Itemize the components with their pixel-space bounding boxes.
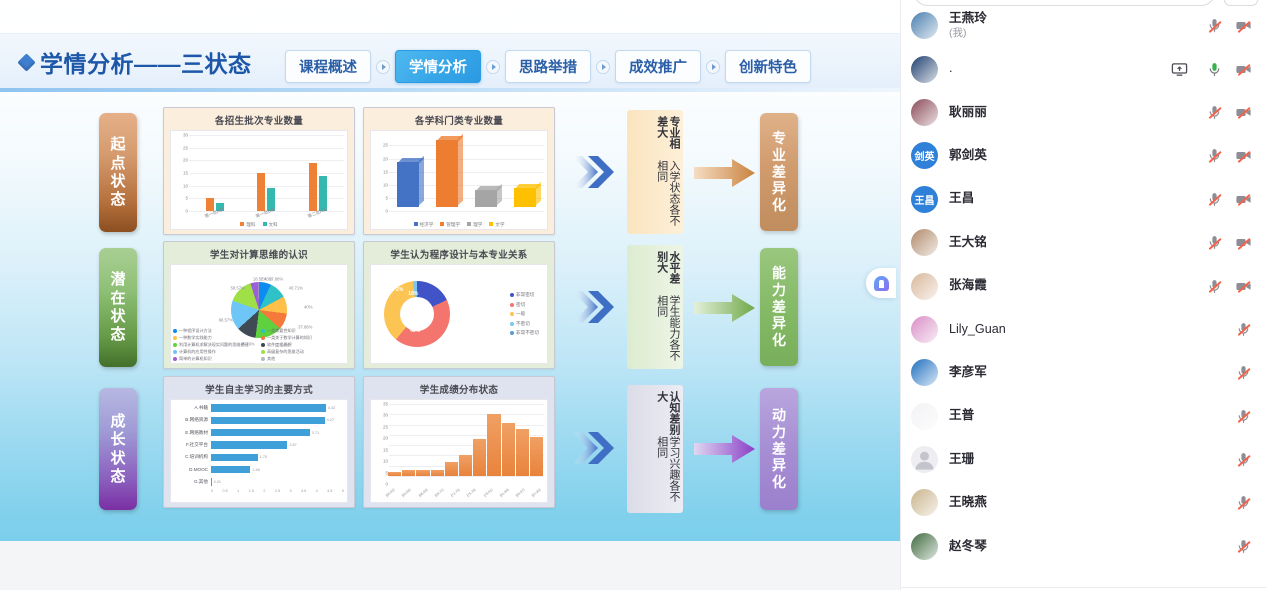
avatar [911, 56, 938, 83]
statement-box-potential: 学生能力各不相同 水平差别大 [627, 245, 683, 369]
x-tick: 0 [211, 489, 213, 497]
hbar-track: 4.32 [211, 404, 344, 412]
hbar-fill [211, 429, 310, 437]
app-root: 学情分析——三状态 课程概述学情分析思路举措成效推广创新特色 起点状态 潜在状态… [0, 0, 1266, 590]
hbar-value: 0.01 [214, 480, 221, 484]
chevron-right-icon [596, 60, 610, 74]
x-tick: 4 [316, 489, 318, 497]
legend-item: 密切 [510, 302, 539, 308]
participant-name: . [949, 61, 1171, 77]
chart-title: 各学科门类专业数量 [370, 113, 548, 127]
y-tick: 25 [383, 143, 388, 148]
result-label-char-3: 异 [772, 181, 786, 196]
participant-name-block: 赵冬琴 [949, 539, 1235, 555]
tab-separator-2 [481, 60, 505, 74]
state-label-char-0: 潜 [110, 272, 125, 287]
x-tick: [75,78) [466, 488, 481, 502]
hbar-track: 1.75 [211, 454, 344, 462]
microphone-muted-icon[interactable] [1206, 147, 1223, 164]
bar-理科 [309, 163, 317, 211]
pie-value-label: 40.71% [289, 285, 303, 290]
avatar [911, 403, 938, 430]
tab-0[interactable]: 课程概述 [285, 50, 371, 83]
hbar-label: F.社交平台 [173, 442, 211, 448]
bar-6 [473, 439, 486, 476]
legend-item: 其他 [261, 355, 345, 362]
chart-plot-area: A.书籍4.32B.网络资源4.27E.网络教材3.71F.社交平台2.87C.… [170, 399, 348, 503]
statement-primary: 水平差别大 [655, 251, 680, 294]
y-tick: 0 [385, 482, 388, 487]
hbar-track: 1.48 [211, 466, 344, 474]
chart-panel-programming-relation: 学生认为程序设计与本专业关系 18%43%37%2%非常密切密切一般不密切非常不… [363, 241, 555, 369]
participant-status-icons [1206, 104, 1252, 121]
participant-row[interactable]: 王昌王昌 [901, 178, 1266, 221]
camera-off-icon[interactable] [1235, 278, 1252, 295]
result-label-char-2: 差 [772, 165, 786, 180]
x-tick: 5 [342, 489, 344, 497]
participant-row[interactable]: 王大铭 [901, 221, 1266, 264]
state-label-char-0: 成 [110, 414, 125, 429]
chart-plot-area: 18%43%37%2%非常密切密切一般不密切非常不密切 [370, 264, 548, 364]
participant-row[interactable]: 耿丽丽 [901, 91, 1266, 134]
slide-bottom-strip [0, 541, 900, 590]
statement-secondary: 学习兴趣各不相同 [655, 436, 680, 507]
x-axis-labels: 00.511.522.533.544.55 [211, 489, 344, 497]
legend-item: 非常密切 [510, 292, 539, 298]
block-arrow-icon [694, 158, 756, 188]
slide-tab-bar[interactable]: 课程概述学情分析思路举措成效推广创新特色 [285, 50, 811, 83]
donut-value-label: 2% [396, 287, 403, 293]
x-tick: [66,69) [418, 488, 433, 502]
hbar-track: 4.27 [211, 417, 344, 425]
microphone-muted-icon[interactable] [1206, 17, 1223, 34]
bar-7 [487, 414, 500, 476]
hbar-row-4: C.培训机构1.75 [173, 454, 344, 462]
legend-item: 一类关于数学计算的知识 [261, 335, 345, 342]
x-tick: 3 [289, 489, 291, 497]
y-tick: 20 [183, 158, 188, 163]
participant-name: 赵冬琴 [949, 539, 1235, 555]
chart-panel-discipline-majors: 各学科门类专业数量 0510152025经济学管理学理学文学 [363, 107, 555, 235]
hbar-label: C.培训机构 [173, 454, 211, 460]
y-tick: 0 [185, 209, 188, 214]
y-tick: 10 [383, 182, 388, 187]
diamond-bullet-icon [17, 53, 35, 71]
legend-item: 一种数学实践能力 [173, 335, 257, 342]
avatar [911, 533, 938, 560]
tab-3[interactable]: 成效推广 [615, 50, 701, 83]
x-tick: 3.5 [301, 489, 306, 497]
result-label-char-0: 动 [772, 408, 786, 423]
y-axis: 0510152025 [373, 135, 389, 211]
participant-status-icons [1206, 147, 1252, 164]
participant-row[interactable]: 王燕玲(我) [901, 4, 1266, 47]
participant-row[interactable]: 张海霞 [901, 264, 1266, 307]
chart-plot-area: 27.86%40.71%40%37.86%62.14%45.29%68.57%5… [170, 264, 348, 364]
hbar-value: 1.48 [252, 468, 259, 472]
result-label-char-4: 化 [772, 475, 786, 490]
x-tick: [78,81) [483, 488, 498, 502]
participant-name: 王晓燕 [949, 495, 1235, 511]
statement-box-start: 入学状态各不相同 专业相差大 [627, 110, 683, 234]
hbar-fill [211, 466, 250, 474]
hbar-row-1: B.网络资源4.27 [173, 417, 344, 425]
result-label-char-4: 化 [772, 333, 786, 348]
camera-off-icon[interactable] [1235, 191, 1252, 208]
page-title: 学情分析——三状态 [20, 45, 252, 79]
participant-name: 耿丽丽 [949, 105, 1206, 121]
microphone-muted-icon[interactable] [1235, 494, 1252, 511]
participants-panel: 王燕玲(我).耿丽丽剑英郭剑英王昌王昌王大铭张海霞Lily_Guan李彦军王普王… [900, 0, 1266, 590]
bar-文学 [514, 188, 536, 207]
bar-管理学 [436, 140, 458, 207]
y-tick: 0 [385, 209, 388, 214]
legend-item: 不密切 [510, 321, 539, 327]
result-label-char-4: 化 [772, 198, 786, 213]
hbar-value: 3.71 [312, 431, 319, 435]
chart-title: 学生成绩分布状态 [370, 382, 548, 396]
y-tick: 5 [385, 195, 388, 200]
result-label-char-1: 力 [772, 283, 786, 298]
header-underline [0, 88, 900, 92]
shared-slide-area: 学情分析——三状态 课程概述学情分析思路举措成效推广创新特色 起点状态 潜在状态… [0, 0, 900, 590]
hbar-label: G.其他 [173, 479, 211, 485]
legend-item: 计算机的应用性操作 [173, 348, 257, 355]
hbar-track: 3.71 [211, 429, 344, 437]
chart-plot-area: 0510152025经济学管理学理学文学 [370, 130, 548, 230]
participant-self-tag: (我) [949, 27, 1206, 40]
hbar-row-3: F.社交平台2.87 [173, 441, 344, 449]
participant-name-block: 王晓燕 [949, 495, 1235, 511]
bar-8 [502, 423, 515, 476]
x-tick: [63,66) [401, 488, 416, 502]
chart-panel-computational-thinking: 学生对计算思维的认识 27.86%40.71%40%37.86%62.14%45… [163, 241, 355, 369]
hbar-fill [211, 417, 325, 425]
hbar-row-2: E.网络教材3.71 [173, 429, 344, 437]
block-arrow-icon [694, 293, 756, 323]
screen-share-icon[interactable] [1171, 61, 1188, 78]
chart-panel-admission-majors: 各招生批次专业数量 051015202530第一批A类第一批B类第二批A类理科文… [163, 107, 355, 235]
slide-title-text: 学情分析——三状态 [40, 45, 252, 79]
state-pill-start: 起点状态 [99, 113, 137, 232]
hbar-label: A.书籍 [173, 405, 211, 411]
participant-status-icons [1235, 364, 1252, 381]
chevron-arrow-icon [570, 287, 616, 327]
participant-name: 王珊 [949, 452, 1235, 468]
x-tick: [60,63) [385, 488, 400, 502]
bars [389, 135, 544, 207]
participant-row[interactable]: 赵冬琴 [901, 525, 1266, 568]
hbar-fill [211, 404, 326, 412]
state-label-char-1: 长 [110, 432, 125, 447]
y-tick: 30 [183, 133, 188, 138]
hbar-rows: A.书籍4.32B.网络资源4.27E.网络教材3.71F.社交平台2.87C.… [173, 402, 344, 488]
bar-理科 [257, 173, 265, 211]
y-tick: 10 [183, 183, 188, 188]
microphone-muted-icon[interactable] [1235, 364, 1252, 381]
donut-value-label: 37% [374, 304, 384, 310]
participant-name: 王大铭 [949, 235, 1206, 251]
participant-list[interactable]: 王燕玲(我).耿丽丽剑英郭剑英王昌王昌王大铭张海霞Lily_Guan李彦军王普王… [901, 4, 1266, 582]
tab-separator-1 [371, 60, 395, 74]
y-tick: 5 [185, 196, 188, 201]
state-label-char-3: 态 [110, 469, 125, 484]
statement-secondary: 入学状态各不相同 [655, 160, 680, 228]
participant-status-icons [1206, 234, 1252, 251]
chevron-arrow-icon [570, 428, 616, 468]
pie-value-label: 58.57% [231, 286, 245, 291]
x-tick: [69,72) [434, 488, 449, 502]
avatar: 剑英 [911, 142, 938, 169]
microphone-muted-icon[interactable] [1206, 234, 1223, 251]
x-tick: [72,75) [450, 488, 465, 502]
participant-name-block: 王珊 [949, 452, 1235, 468]
microphone-muted-icon[interactable] [1206, 278, 1223, 295]
tab-1[interactable]: 学情分析 [395, 50, 481, 83]
participant-name-block: 王大铭 [949, 235, 1206, 251]
participant-name-block: 耿丽丽 [949, 105, 1206, 121]
chart-title: 学生认为程序设计与本专业关系 [370, 247, 548, 261]
hbar-row-6: G.其他0.01 [173, 478, 344, 486]
chart-title: 学生自主学习的主要方式 [170, 382, 348, 396]
legend-item: 理科 [240, 216, 255, 231]
tab-2[interactable]: 思路举措 [505, 50, 591, 83]
x-tick: 1 [237, 489, 239, 497]
participant-name: Lily_Guan [949, 322, 1235, 338]
chart-panel-score-distribution: 学生成绩分布状态 05101520253035[60,63)[63,66)[66… [363, 376, 555, 508]
legend-item: 利用计算机求解决现实问题的思维途径 [173, 342, 257, 349]
x-tick: [84,87) [515, 488, 530, 502]
participant-name: 李彦军 [949, 365, 1235, 381]
result-label-char-0: 专 [772, 131, 786, 146]
bar-2 [416, 470, 429, 476]
participant-status-icons [1235, 321, 1252, 338]
participant-name-block: 王昌 [949, 191, 1206, 207]
tab-separator-4 [701, 60, 725, 74]
bar-1 [402, 470, 415, 476]
result-label-char-2: 差 [772, 442, 786, 457]
ai-assistant-button[interactable] [866, 268, 896, 298]
state-label-char-1: 在 [110, 291, 125, 306]
hbar-label: E.网络教材 [173, 430, 211, 436]
pie-legend: 一种程序设计方法一类需要性知识一种数学实践能力一类关于数学计算的知识利用计算机求… [173, 328, 345, 362]
hbar-fill [211, 454, 258, 462]
pie-value-label: 1.43% [261, 276, 273, 281]
hbar-track: 0.01 [211, 478, 344, 486]
state-label-char-3: 态 [110, 192, 125, 207]
participant-status-icons [1206, 278, 1252, 295]
state-label-char-2: 状 [110, 451, 125, 466]
participant-row[interactable]: 李彦军 [901, 351, 1266, 394]
avatar [911, 489, 938, 516]
assistant-icon [874, 276, 889, 291]
legend-item: 高级复杂的思维活动 [261, 348, 345, 355]
statement-primary: 专业相差大 [655, 116, 680, 159]
chart-title: 各招生批次专业数量 [170, 113, 348, 127]
participant-status-icons [1206, 17, 1252, 34]
hbar-value: 1.75 [260, 455, 267, 459]
microphone-muted-icon[interactable] [1235, 451, 1252, 468]
bar-经济学 [397, 162, 419, 207]
bar-group-2 [309, 135, 327, 211]
legend-item: 管理学 [440, 216, 460, 231]
chevron-right-icon [486, 60, 500, 74]
legend-item: 文科 [263, 216, 278, 231]
participant-name: 张海霞 [949, 278, 1206, 294]
microphone-muted-icon[interactable] [1206, 191, 1223, 208]
camera-off-icon[interactable] [1235, 147, 1252, 164]
legend-item: 一类需要性知识 [261, 328, 345, 335]
x-tick: 2 [263, 489, 265, 497]
x-tick: 2.5 [275, 489, 280, 497]
result-label-char-3: 异 [772, 458, 786, 473]
state-label-char-3: 态 [110, 327, 125, 342]
donut-value-label: 43% [410, 328, 420, 334]
state-pill-potential: 潜在状态 [99, 248, 137, 367]
bar-理学 [475, 190, 497, 207]
tab-separator-3 [591, 60, 615, 74]
legend-item: 一种程序设计方法 [173, 328, 257, 335]
state-label-char-2: 状 [110, 309, 125, 324]
participant-name: 王昌 [949, 191, 1206, 207]
x-tick: 1.5 [249, 489, 254, 497]
avatar [911, 446, 938, 473]
avatar [911, 99, 938, 126]
bar-3 [431, 470, 444, 476]
microphone-on-icon[interactable] [1206, 61, 1223, 78]
avatar [911, 316, 938, 343]
participant-status-icons [1171, 61, 1252, 78]
donut-value-label: 18% [408, 291, 418, 297]
y-axis: 051015202530 [173, 135, 189, 211]
result-label-char-1: 力 [772, 425, 786, 440]
legend-item: 软件工程思想 [261, 342, 345, 349]
statement-primary: 认知差别大 [655, 391, 680, 435]
bars [189, 135, 344, 211]
microphone-muted-icon[interactable] [1235, 408, 1252, 425]
chart-panel-self-learning: 学生自主学习的主要方式 A.书籍4.32B.网络资源4.27E.网络教材3.71… [163, 376, 355, 508]
state-pill-growth: 成长状态 [99, 388, 137, 510]
tab-4[interactable]: 创新特色 [725, 50, 811, 83]
participant-status-icons [1235, 538, 1252, 555]
chevron-right-icon [706, 60, 720, 74]
camera-off-icon[interactable] [1235, 61, 1252, 78]
microphone-muted-icon[interactable] [1235, 321, 1252, 338]
microphone-muted-icon[interactable] [1206, 104, 1223, 121]
participant-row[interactable]: 王普 [901, 395, 1266, 438]
bar-0 [388, 472, 401, 476]
participant-name-block: 张海霞 [949, 278, 1206, 294]
avatar [911, 12, 938, 39]
participant-name-block: 李彦军 [949, 365, 1235, 381]
participant-row[interactable]: 王珊 [901, 438, 1266, 481]
bar-9 [516, 429, 529, 476]
participant-row[interactable]: . [901, 47, 1266, 90]
participant-name-block: 郭剑英 [949, 148, 1206, 164]
result-pill-major: 专业差异化 [760, 113, 798, 231]
chart-title: 学生对计算思维的认识 [170, 247, 348, 261]
legend: 经济学管理学理学文学 [371, 220, 547, 229]
panel-divider [901, 587, 1266, 588]
hbar-fill [211, 478, 212, 486]
state-label-char-0: 起 [110, 137, 125, 152]
legend-item: 非常不密切 [510, 330, 539, 336]
participant-name: 郭剑英 [949, 148, 1206, 164]
participant-status-icons [1235, 408, 1252, 425]
participant-name-block: . [949, 61, 1171, 77]
participant-row[interactable]: Lily_Guan [901, 308, 1266, 351]
result-pill-ability: 能力差异化 [760, 248, 798, 366]
participant-name: 王燕玲 [949, 11, 1206, 27]
state-label-char-1: 点 [110, 156, 125, 171]
legend-item: 文学 [489, 216, 504, 231]
x-tick: 0.5 [223, 489, 228, 497]
participant-name-block: Lily_Guan [949, 322, 1235, 338]
participant-name: 王普 [949, 408, 1235, 424]
legend-item: 经济学 [414, 216, 434, 231]
pie-value-label: 40% [304, 304, 312, 309]
x-tick: [81,84) [499, 488, 514, 502]
statement-secondary: 学生能力各不相同 [655, 295, 680, 363]
y-tick: 20 [383, 156, 388, 161]
camera-off-icon[interactable] [1235, 104, 1252, 121]
hbar-label: D.MOOC [173, 467, 211, 472]
bar-group-1 [257, 135, 275, 211]
x-tick: 4.5 [327, 489, 332, 497]
camera-off-icon[interactable] [1235, 17, 1252, 34]
participant-row[interactable]: 剑英郭剑英 [901, 134, 1266, 177]
participant-row[interactable]: 王晓燕 [901, 481, 1266, 524]
camera-off-icon[interactable] [1235, 234, 1252, 251]
participant-status-icons [1206, 191, 1252, 208]
hbar-value: 4.27 [327, 418, 334, 422]
microphone-muted-icon[interactable] [1235, 538, 1252, 555]
avatar: 王昌 [911, 186, 938, 213]
block-arrow-icon [694, 434, 756, 464]
legend: 理科文科 [171, 220, 347, 229]
legend-item: 理学 [467, 216, 482, 231]
participant-status-icons [1235, 451, 1252, 468]
participant-name-block: 王普 [949, 408, 1235, 424]
state-label-char-2: 状 [110, 174, 125, 189]
bar-10 [530, 437, 543, 476]
statement-box-growth: 学习兴趣各不相同 认知差别大 [627, 385, 683, 513]
result-label-char-3: 异 [772, 316, 786, 331]
chevron-right-icon [376, 60, 390, 74]
hbar-value: 4.32 [328, 406, 335, 410]
hbar-track: 2.87 [211, 441, 344, 449]
participant-status-icons [1235, 494, 1252, 511]
result-label-char-1: 业 [772, 148, 786, 163]
bars [387, 404, 544, 476]
chevron-arrow-icon [570, 152, 616, 192]
bar-group-0 [206, 135, 224, 211]
hbar-fill [211, 441, 287, 449]
chart-plot-area: 05101520253035[60,63)[63,66)[66,69)[69,7… [370, 399, 548, 503]
bar-5 [459, 455, 472, 476]
x-tick: [87,90) [531, 488, 546, 502]
result-pill-motivation: 动力差异化 [760, 388, 798, 510]
legend-item: 简单的计算机知识 [173, 355, 257, 362]
legend-item: 一般 [510, 311, 539, 317]
avatar [911, 359, 938, 386]
avatar [911, 273, 938, 300]
donut-legend: 非常密切密切一般不密切非常不密切 [510, 292, 539, 336]
hbar-value: 2.87 [289, 443, 296, 447]
bar-4 [445, 462, 458, 476]
hbar-row-0: A.书籍4.32 [173, 404, 344, 412]
participant-name-block: 王燕玲(我) [949, 11, 1206, 40]
